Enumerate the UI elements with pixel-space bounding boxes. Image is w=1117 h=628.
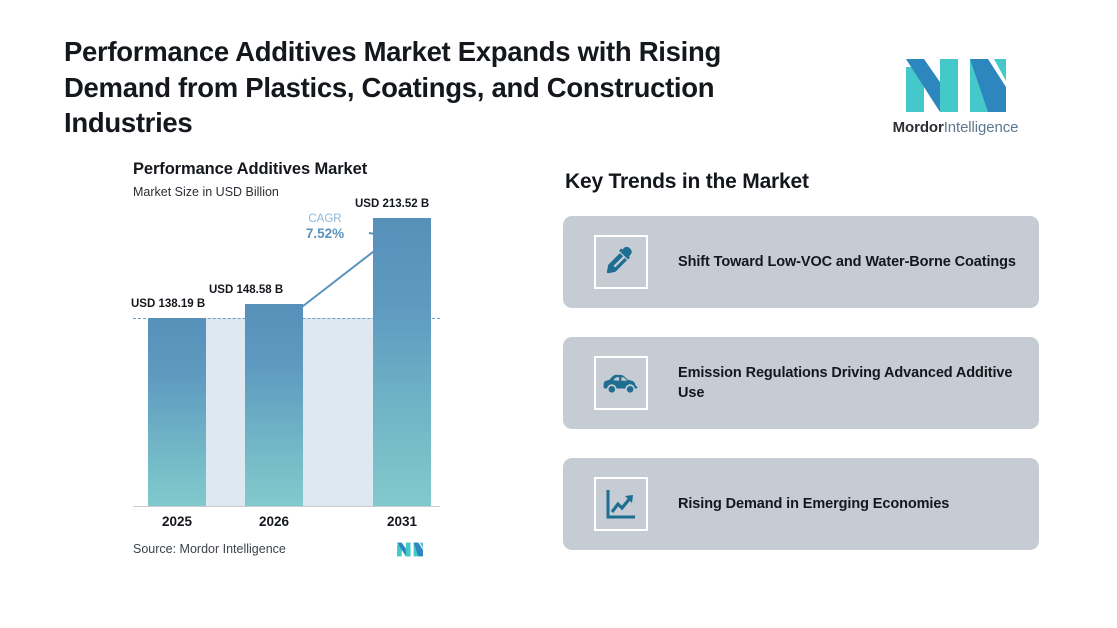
x-tick-2026: 2026 xyxy=(244,514,304,529)
source-text: Source: Mordor Intelligence xyxy=(133,542,286,556)
bar-2026 xyxy=(245,304,303,506)
key-trends-heading: Key Trends in the Market xyxy=(565,170,1041,194)
bar-2025 xyxy=(148,318,206,506)
chart-source: Source: Mordor Intelligence xyxy=(133,538,440,560)
header: Performance Additives Market Expands wit… xyxy=(64,34,1014,154)
dropper-icon xyxy=(594,235,648,289)
trend-card-emission[interactable]: Emission Regulations Driving Advanced Ad… xyxy=(563,337,1039,429)
chart-band-1 xyxy=(206,318,245,506)
x-tick-2025: 2025 xyxy=(147,514,207,529)
trend-label: Emission Regulations Driving Advanced Ad… xyxy=(678,363,1017,403)
x-tick-2031: 2031 xyxy=(372,514,432,529)
x-axis-line xyxy=(133,506,440,507)
mordor-logo-icon xyxy=(902,55,1010,112)
trend-label: Shift Toward Low-VOC and Water-Borne Coa… xyxy=(678,252,1016,272)
chart-title: Performance Additives Market xyxy=(133,160,453,179)
cagr-label: CAGR xyxy=(296,212,354,226)
chart-subtitle: Market Size in USD Billion xyxy=(133,185,453,199)
bar-chart-plot: USD 138.19 B USD 148.58 B USD 213.52 B C… xyxy=(133,218,440,506)
brand-wordmark: MordorIntelligence xyxy=(893,119,1019,136)
brand-word-light: Intelligence xyxy=(944,119,1019,136)
chart-panel: Performance Additives Market Market Size… xyxy=(133,160,453,570)
trend-card-emerging-economies[interactable]: Rising Demand in Emerging Economies xyxy=(563,458,1039,550)
key-trends-section: Key Trends in the Market Shift Toward Lo… xyxy=(563,170,1041,579)
bar-label-2025: USD 138.19 B xyxy=(131,298,205,310)
trend-label: Rising Demand in Emerging Economies xyxy=(678,494,949,514)
brand-logo: MordorIntelligence xyxy=(893,55,1018,145)
source-mordor-logo-icon xyxy=(396,540,424,558)
trend-card-low-voc[interactable]: Shift Toward Low-VOC and Water-Borne Coa… xyxy=(563,216,1039,308)
growth-chart-icon xyxy=(594,477,648,531)
bar-label-2031: USD 213.52 B xyxy=(355,198,429,210)
brand-word-bold: Mordor xyxy=(893,119,944,136)
page-title: Performance Additives Market Expands wit… xyxy=(64,34,804,141)
cagr-arrow-icon xyxy=(283,228,403,323)
bar-label-2026: USD 148.58 B xyxy=(209,284,283,296)
car-icon xyxy=(594,356,648,410)
